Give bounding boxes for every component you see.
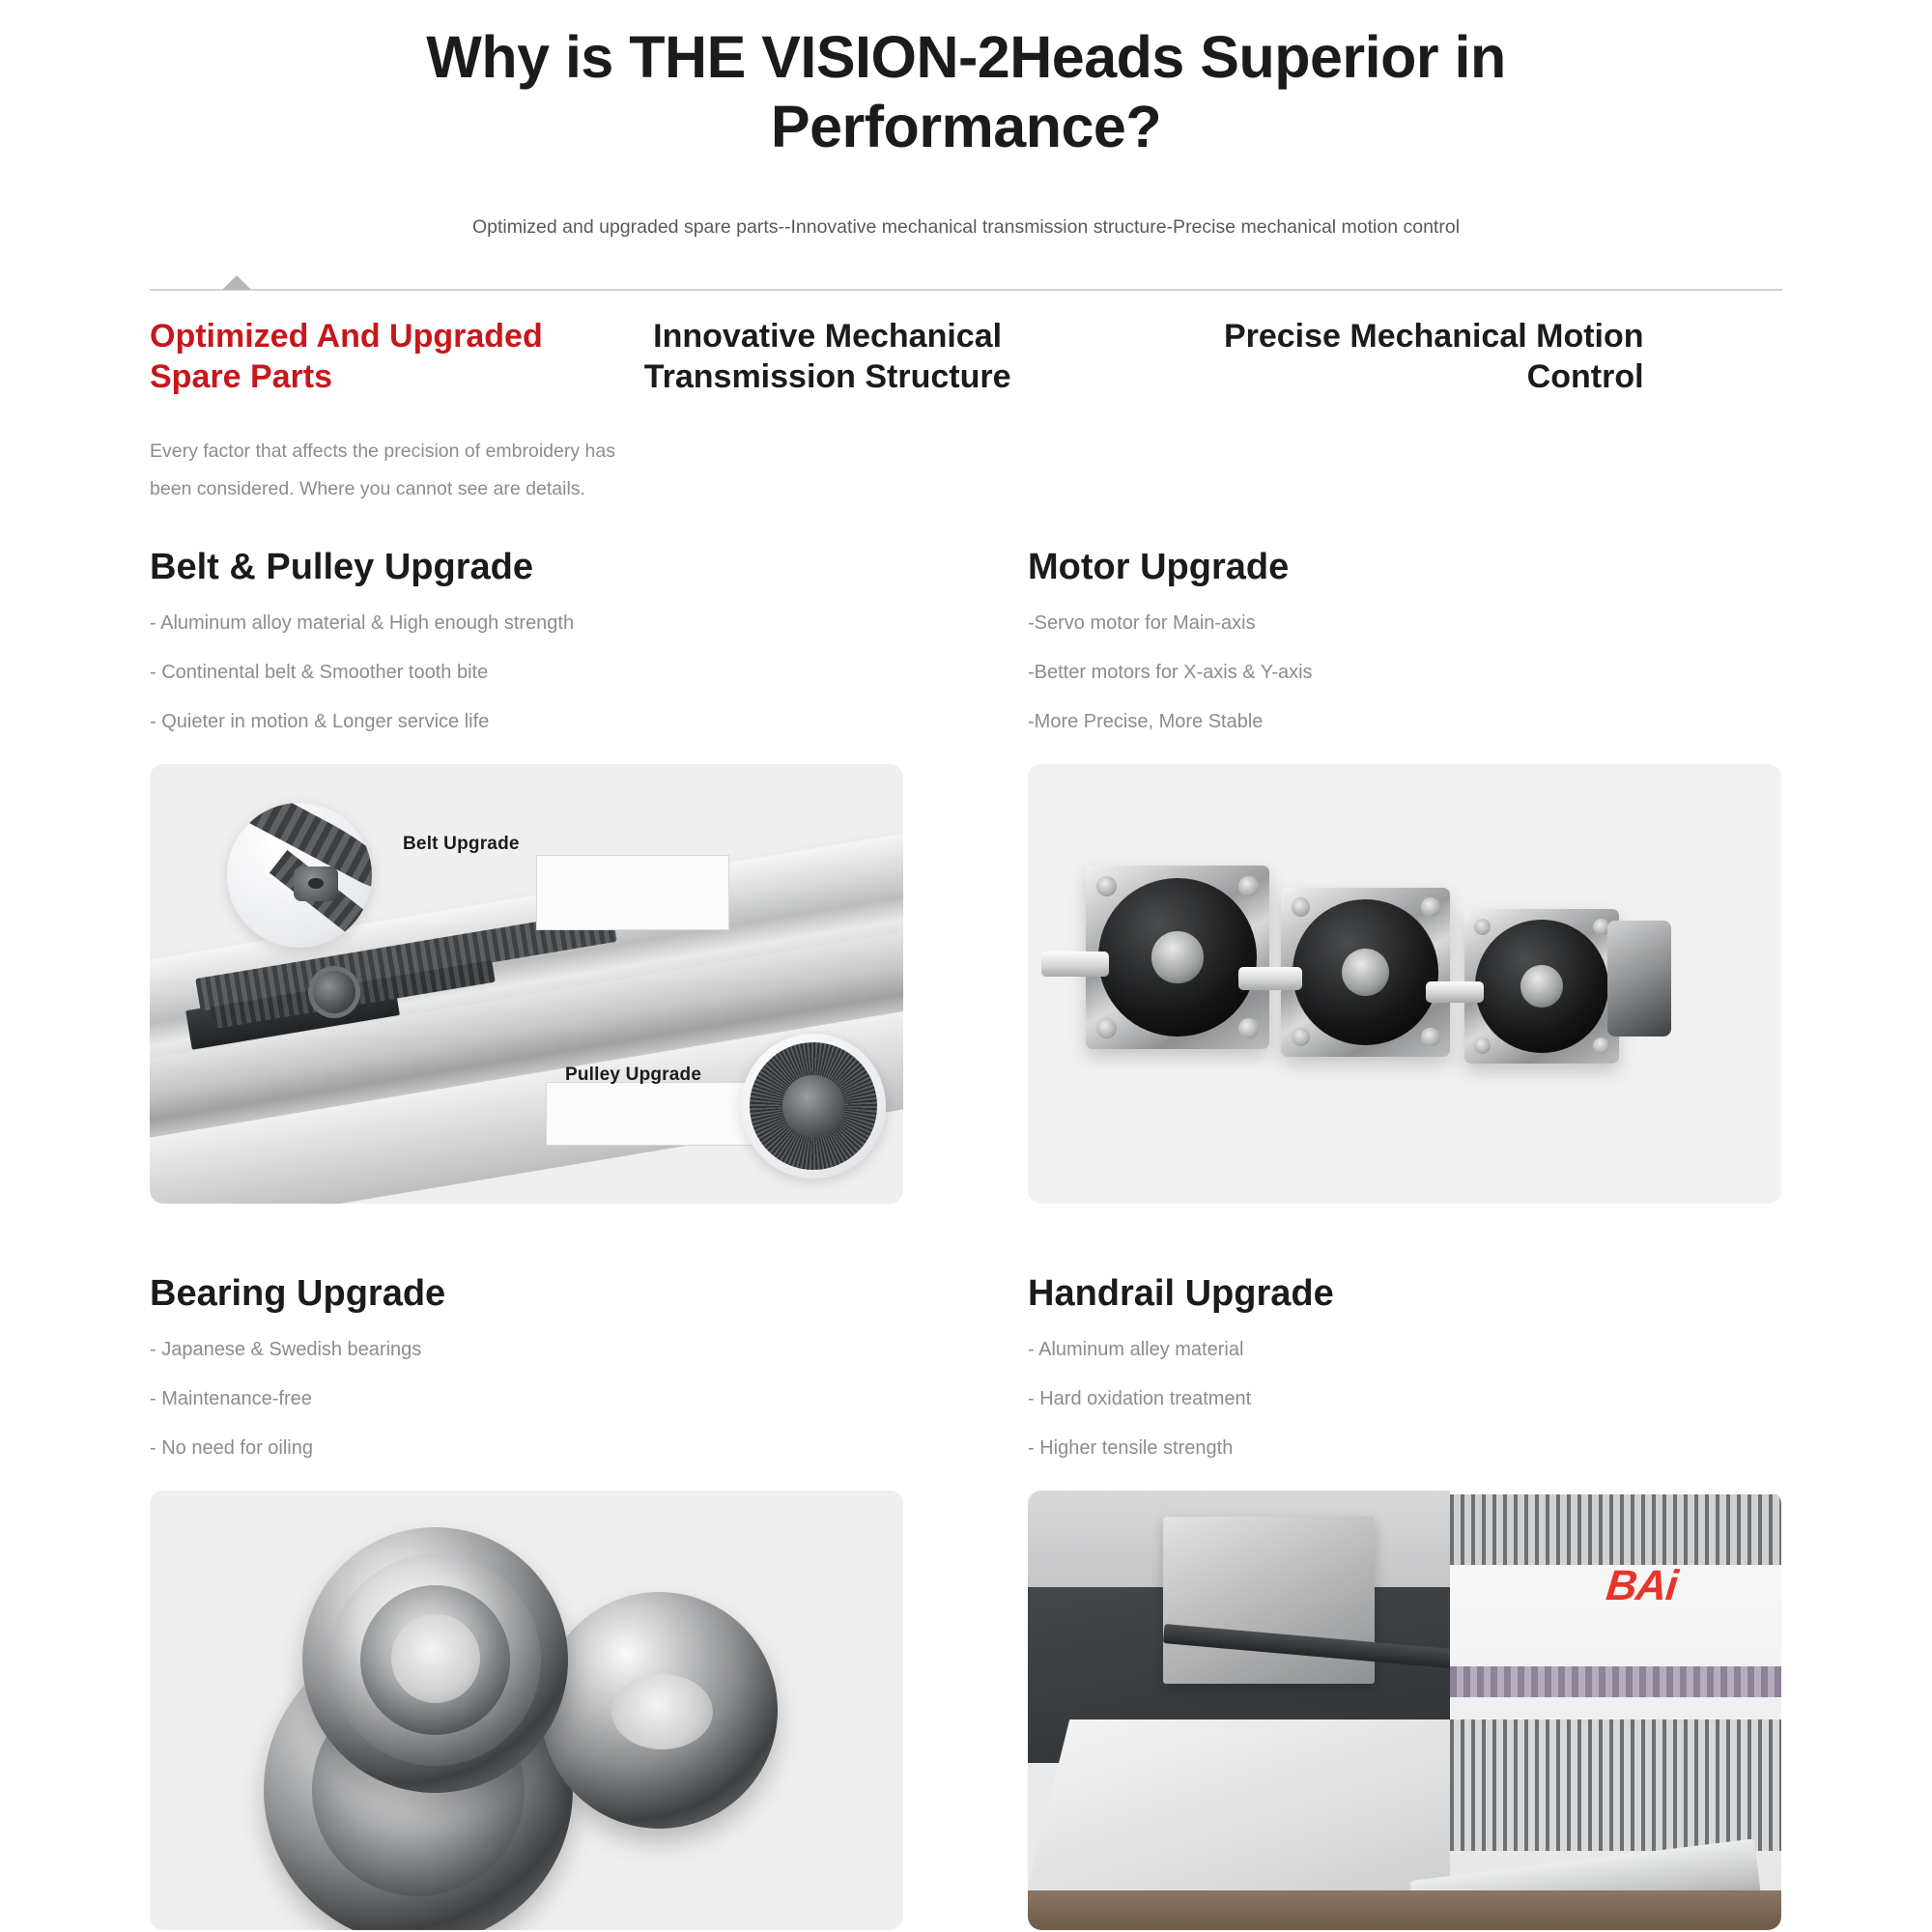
list-item: -Better motors for X-axis & Y-axis	[1028, 663, 1782, 682]
feature-bullets: - Aluminum alloy material & High enough …	[150, 613, 904, 731]
tab-divider	[150, 289, 1782, 291]
feature-title: Handrail Upgrade	[1028, 1273, 1782, 1315]
floor-strip	[1028, 1890, 1781, 1930]
belt-pulley-image: Belt Upgrade Pulley Upgrade	[150, 764, 903, 1204]
bai-logo: BAi	[1605, 1562, 1680, 1610]
thread-guide-strip	[1450, 1666, 1781, 1697]
servo-motor-1-shape	[1086, 866, 1269, 1049]
needle-bar-row-bottom	[1450, 1719, 1781, 1852]
bearing-top-bore	[391, 1614, 480, 1703]
belt-upgrade-label: Belt Upgrade	[403, 834, 520, 855]
servo-motor-2-shape	[1281, 888, 1450, 1057]
list-item: -Servo motor for Main-axis	[1028, 613, 1782, 633]
active-tab-caret-icon	[222, 275, 251, 290]
page-root: Why is THE VISION-2Heads Superior in Per…	[0, 0, 1932, 1932]
tab-transmission-structure[interactable]: Innovative Mechanical Transmission Struc…	[555, 316, 1099, 398]
feature-grid: Belt & Pulley Upgrade - Aluminum alloy m…	[150, 547, 1782, 1930]
motor-gearbox-shape	[1607, 921, 1671, 1037]
pulley-magnifier-icon	[741, 1034, 886, 1179]
needle-bar-row-top	[1450, 1494, 1781, 1565]
intro-paragraph: Every factor that affects the precision …	[150, 433, 652, 508]
list-item: - Higher tensile strength	[1028, 1438, 1782, 1458]
pulley-upgrade-label: Pulley Upgrade	[565, 1065, 701, 1086]
pulley-callout-box	[546, 1082, 768, 1146]
belt-magnifier-icon	[227, 803, 372, 948]
list-item: - No need for oiling	[150, 1438, 904, 1458]
tab-motion-control[interactable]: Precise Mechanical Motion Control	[1099, 316, 1643, 398]
bearing-right-bore	[611, 1674, 713, 1749]
page-subtitle: Optimized and upgraded spare parts--Inno…	[0, 216, 1932, 239]
tab-optimized-spare-parts[interactable]: Optimized And Upgraded Spare Parts	[150, 316, 555, 398]
list-item: - Aluminum alloy material & High enough …	[150, 613, 904, 633]
feature-bearing: Bearing Upgrade - Japanese & Swedish bea…	[150, 1273, 904, 1930]
list-item: - Japanese & Swedish bearings	[150, 1340, 904, 1359]
feature-belt-pulley: Belt & Pulley Upgrade - Aluminum alloy m…	[150, 547, 904, 1204]
tab-bar: Optimized And Upgraded Spare Parts Innov…	[150, 289, 1782, 398]
handrail-image: BAi	[1028, 1491, 1781, 1930]
feature-handrail: Handrail Upgrade - Aluminum alley materi…	[1028, 1273, 1782, 1930]
servo-motor-3-shape	[1464, 909, 1619, 1064]
feature-title: Motor Upgrade	[1028, 547, 1782, 588]
motor-image	[1028, 764, 1781, 1204]
list-item: - Maintenance-free	[150, 1389, 904, 1408]
list-item: -More Precise, More Stable	[1028, 712, 1782, 731]
feature-motor: Motor Upgrade -Servo motor for Main-axis…	[1028, 547, 1782, 1204]
feature-bullets: -Servo motor for Main-axis -Better motor…	[1028, 613, 1782, 731]
list-item: - Quieter in motion & Longer service lif…	[150, 712, 904, 731]
feature-title: Belt & Pulley Upgrade	[150, 547, 904, 588]
list-item: - Aluminum alley material	[1028, 1340, 1782, 1359]
bearing-image	[150, 1491, 903, 1930]
feature-bullets: - Japanese & Swedish bearings - Maintena…	[150, 1340, 904, 1458]
feature-bullets: - Aluminum alley material - Hard oxidati…	[1028, 1340, 1782, 1458]
belt-callout-box	[536, 855, 729, 930]
list-item: - Hard oxidation treatment	[1028, 1389, 1782, 1408]
list-item: - Continental belt & Smoother tooth bite	[150, 663, 904, 682]
page-title: Why is THE VISION-2Heads Superior in Per…	[0, 0, 1932, 162]
feature-title: Bearing Upgrade	[150, 1273, 904, 1315]
